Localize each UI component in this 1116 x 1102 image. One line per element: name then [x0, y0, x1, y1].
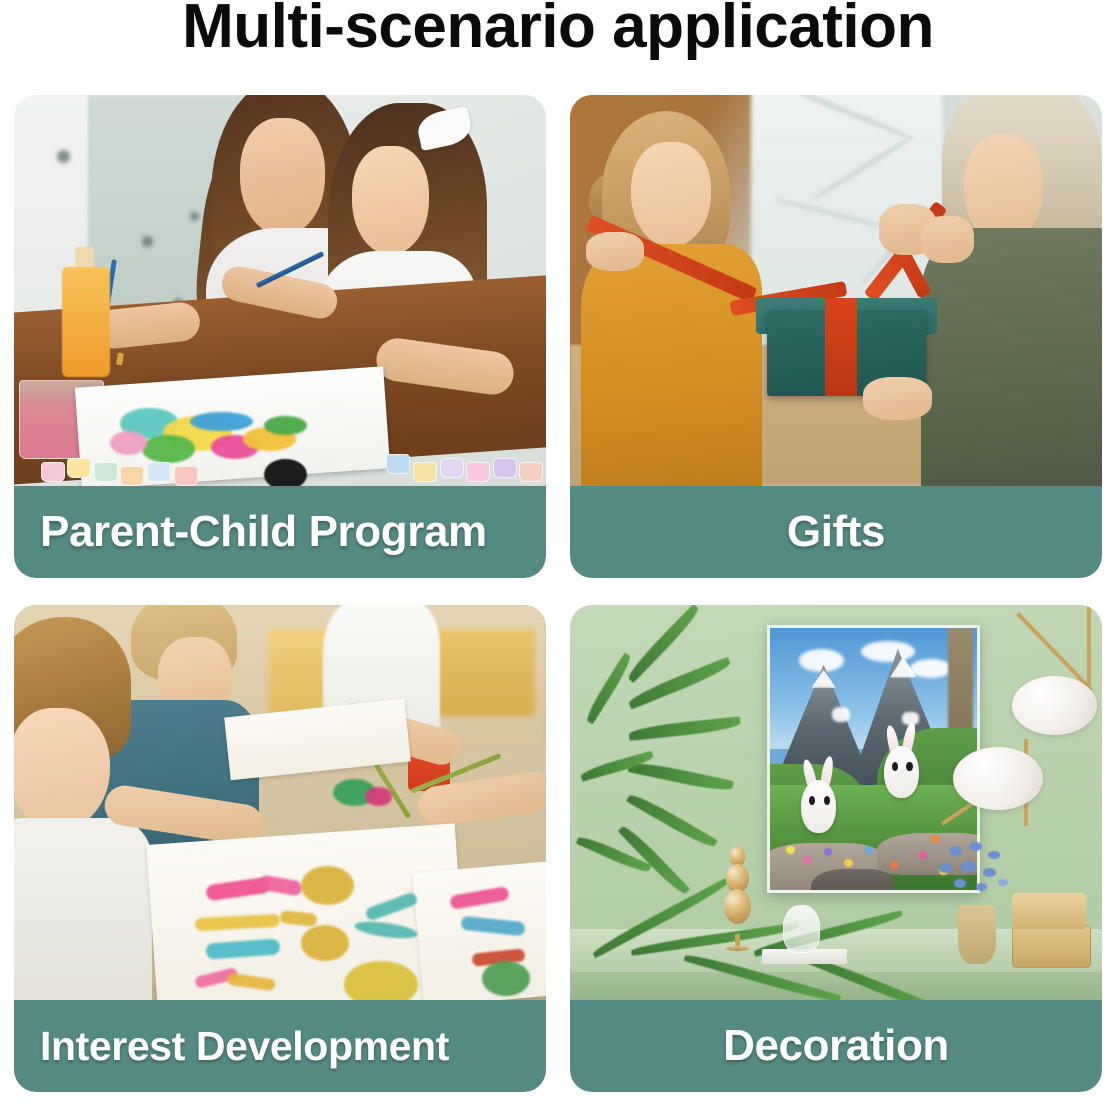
card-label-bar-interest-development: Interest Development: [14, 1000, 546, 1092]
parent-child-painting-photo: [14, 95, 546, 486]
rattan-basket-lower: [1012, 925, 1092, 968]
rattan-basket-upper: [1012, 893, 1086, 929]
gold-ball-ornament: [724, 846, 751, 949]
scenario-card-gifts[interactable]: Gifts: [570, 95, 1102, 578]
flower-vase: [958, 905, 995, 964]
card-label-bar-gifts: Gifts: [570, 486, 1102, 578]
classroom-painting-photo: [14, 605, 546, 1000]
card-label-parent-child-program: Parent-Child Program: [40, 507, 487, 557]
card-label-bar-parent-child-program: Parent-Child Program: [14, 486, 546, 578]
scenario-card-parent-child-program[interactable]: Parent-Child Program: [14, 95, 546, 578]
card-label-interest-development: Interest Development: [40, 1023, 449, 1070]
scenario-card-grid: Parent-Child Program: [14, 95, 1102, 1092]
card-label-decoration: Decoration: [723, 1021, 949, 1071]
blue-flower-bouquet: [932, 842, 1017, 913]
scenario-card-decoration[interactable]: Decoration: [570, 605, 1102, 1092]
card-label-bar-decoration: Decoration: [570, 1000, 1102, 1092]
gift-opening-photo: [570, 95, 1102, 486]
scenario-card-interest-development[interactable]: Interest Development: [14, 605, 546, 1092]
card-label-gifts: Gifts: [787, 507, 885, 557]
page-title: Multi-scenario application: [0, 0, 1116, 59]
pendant-globe-light-upper: [1012, 676, 1097, 735]
foreground-foliage: [570, 937, 953, 1000]
pendant-globe-light-lower: [953, 747, 1043, 810]
glass-bottle: [783, 905, 820, 952]
wall-decoration-photo: [570, 605, 1102, 1000]
